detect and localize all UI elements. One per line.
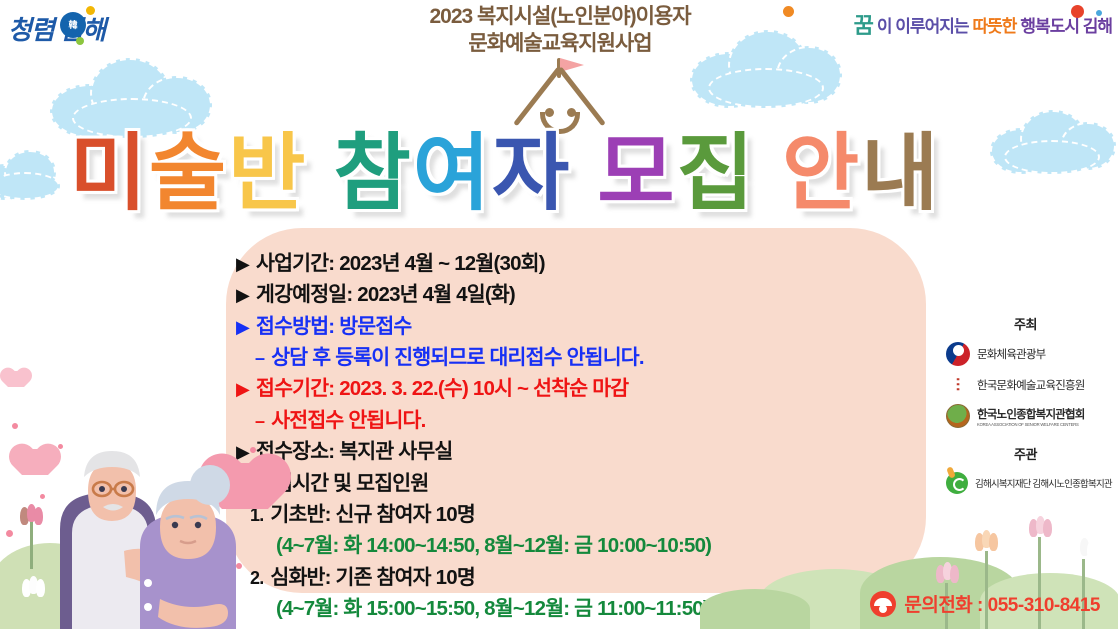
info-line-text: 상담 후 등록이 진행되므로 대리접수 안됩니다. — [271, 346, 644, 369]
info-line: ▶사업기간: 2023년 4월 ~ 12월(30회) — [236, 248, 926, 279]
sponsor-name-arte: 한국문화예술교육진흥원 — [977, 377, 1085, 393]
headline-char: 집 — [677, 126, 756, 220]
elderly-couple-illustration — [0, 379, 270, 629]
contact-phone-label: 문의전화 : 055-310-8415 — [904, 590, 1100, 617]
slogan-part1: 이 이루어지는 — [877, 12, 969, 37]
sponsor-item-kaswc: 한국노인종합복지관협회 KOREA ASSOCIATION OF SENIOR … — [938, 404, 1113, 428]
headline-char: 내 — [861, 126, 940, 220]
host-heading: 주최 — [938, 314, 1113, 333]
headline-char: 미 — [70, 126, 149, 220]
arte-seal-icon: ⵗ — [946, 375, 970, 395]
slogan-dot-blue-icon — [1096, 10, 1102, 16]
info-line: ▶접수기간: 2023. 3. 22.(수) 10시 ~ 선착순 마감 — [236, 373, 926, 404]
info-line-text: (4~7월: 화 15:00~15:50, 8월~12월: 금 11:00~11… — [276, 597, 709, 620]
bush-4 — [700, 589, 810, 629]
city-slogan: 꿈 이 이루어지는 따뜻한 행복도시 김해 — [854, 8, 1112, 40]
info-line: ▶수업시간 및 모집인원 — [236, 468, 926, 499]
info-line-text: (4~7월: 화 14:00~14:50, 8월~12월: 금 10:00~10… — [276, 534, 711, 557]
organizer-name-kimhae: 김해시복지재단 김해시노인종합복지관 — [975, 476, 1112, 490]
sponsor-name-kaswc: 한국노인종합복지관협회 — [977, 406, 1085, 422]
info-line-text: 사업기간: 2023년 4월 ~ 12월(30회) — [256, 252, 545, 275]
info-line: (4~7월: 화 14:00~14:50, 8월~12월: 금 10:00~10… — [236, 530, 926, 561]
headline-char: 안 — [782, 126, 861, 220]
program-title-line1: 2023 복지시설(노인분야)이용자 — [380, 4, 740, 31]
tulip-flower-4 — [936, 565, 958, 587]
slogan-dot-orange-icon — [783, 6, 794, 17]
info-line-text: 심화반: 기존 참여자 10명 — [270, 566, 474, 589]
info-line: –사전접수 안됩니다. — [236, 405, 926, 436]
program-title: 2023 복지시설(노인분야)이용자 문화예술교육지원사업 — [380, 4, 740, 58]
poster-canvas: 청렴 김해 韓 2023 복지시설(노인분야)이용자 문화예술교육지원사업 꿈 … — [0, 0, 1118, 629]
headline-char: 모 — [597, 126, 676, 220]
info-line-text: 접수기간: 2023. 3. 22.(수) 10시 ~ 선착순 마감 — [256, 377, 628, 400]
info-panel-lines: ▶사업기간: 2023년 4월 ~ 12월(30회)▶게강예정일: 2023년 … — [236, 248, 926, 624]
info-line: –상담 후 등록이 진행되므로 대리접수 안됩니다. — [236, 342, 926, 373]
organizer-item-kimhae: 김해시복지재단 김해시노인종합복지관 — [938, 472, 1113, 494]
logo-dot-green — [76, 37, 84, 45]
kaswc-emblem-icon — [946, 404, 970, 428]
page-title: 미술반참여자모집안내 — [0, 106, 1010, 227]
info-line-bullet: – — [255, 345, 264, 373]
info-line: ▶접수장소: 복지관 사무실 — [236, 436, 926, 467]
info-line-bullet: ▶ — [236, 282, 249, 310]
city-integrity-logo: 청렴 김해 韓 — [8, 4, 148, 48]
headline-char: 자 — [492, 126, 571, 220]
info-line-bullet: ▶ — [236, 251, 249, 279]
kimhae-foundation-icon — [946, 472, 968, 494]
phone-icon — [870, 591, 896, 617]
city-integrity-logo-text: 청렴 김해 — [8, 10, 105, 47]
slogan-dream-word: 꿈 — [854, 8, 873, 40]
slogan-dot-red-icon — [1071, 5, 1084, 18]
headline-char: 술 — [149, 126, 228, 220]
info-line: 1.기초반: 신규 참여자 10명 — [236, 499, 926, 530]
sponsor-block: 주최 문화체육관광부 ⵗ 한국문화예술교육진흥원 한국노인종합복지관협회 KOR… — [938, 314, 1113, 503]
info-line: ▶게강예정일: 2023년 4월 4일(화) — [236, 279, 926, 310]
city-integrity-emblem: 韓 — [60, 12, 86, 38]
info-line-text: 기초반: 신규 참여자 10명 — [270, 503, 474, 526]
info-line-text: 게강예정일: 2023년 4월 4일(화) — [256, 283, 515, 306]
info-line-bullet: ▶ — [236, 314, 249, 342]
slogan-part2: 따뜻한 — [973, 12, 1017, 37]
tulip-flower-3 — [1073, 541, 1095, 563]
headline-char: 참 — [333, 126, 412, 220]
organizer-heading: 주관 — [938, 444, 1113, 463]
info-line-text: 접수방법: 방문접수 — [256, 315, 411, 338]
headline-char: 반 — [228, 126, 307, 220]
logo-dot-yellow — [86, 6, 95, 15]
sponsor-subname-kaswc: KOREA ASSOCIATION OF SENIOR WELFARE CENT… — [977, 422, 1085, 427]
contact-phone: 문의전화 : 055-310-8415 — [870, 590, 1100, 617]
headline-char: 여 — [413, 126, 492, 220]
tulip-flower-2 — [1029, 519, 1051, 541]
info-line-text: 사전접수 안됩니다. — [271, 409, 425, 432]
info-line-text: 접수장소: 복지관 사무실 — [256, 440, 452, 463]
sponsor-item-mcst: 문화체육관광부 — [938, 342, 1113, 366]
taegeuk-icon — [946, 342, 970, 366]
program-title-line2: 문화예술교육지원사업 — [380, 31, 740, 58]
tulip-flower-1 — [975, 533, 997, 555]
sponsor-name-mcst: 문화체육관광부 — [977, 346, 1045, 362]
info-line: ▶접수방법: 방문접수 — [236, 311, 926, 342]
sponsor-item-arte: ⵗ 한국문화예술교육진흥원 — [938, 375, 1113, 395]
